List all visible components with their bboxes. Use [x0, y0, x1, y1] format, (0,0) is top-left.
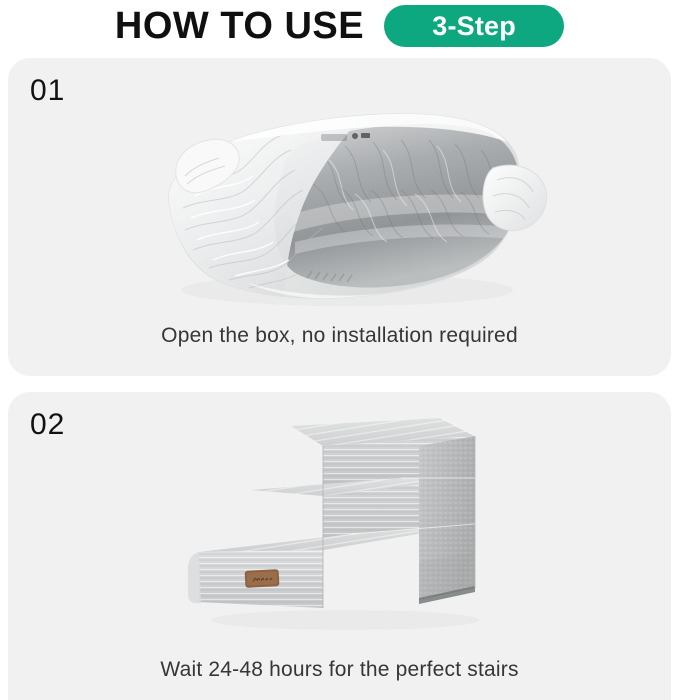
- step-caption-01: Open the box, no installation required: [8, 323, 671, 348]
- step-card-02: 02: [8, 392, 671, 700]
- step-image-01: [8, 84, 671, 324]
- step-count-badge: 3-Step: [384, 5, 564, 47]
- brand-leather-tag: [244, 569, 279, 588]
- pet-stairs-illustration: [175, 412, 505, 640]
- step-image-02: [8, 412, 671, 640]
- vacuum-sealed-package-illustration: [125, 84, 555, 324]
- step-caption-02: Wait 24-48 hours for the perfect stairs: [8, 657, 671, 682]
- header: HOW TO USE 3-Step: [0, 0, 679, 52]
- how-to-use-infographic: HOW TO USE 3-Step 01: [0, 0, 679, 700]
- step-card-01: 01: [8, 58, 671, 376]
- page-title: HOW TO USE: [115, 7, 364, 45]
